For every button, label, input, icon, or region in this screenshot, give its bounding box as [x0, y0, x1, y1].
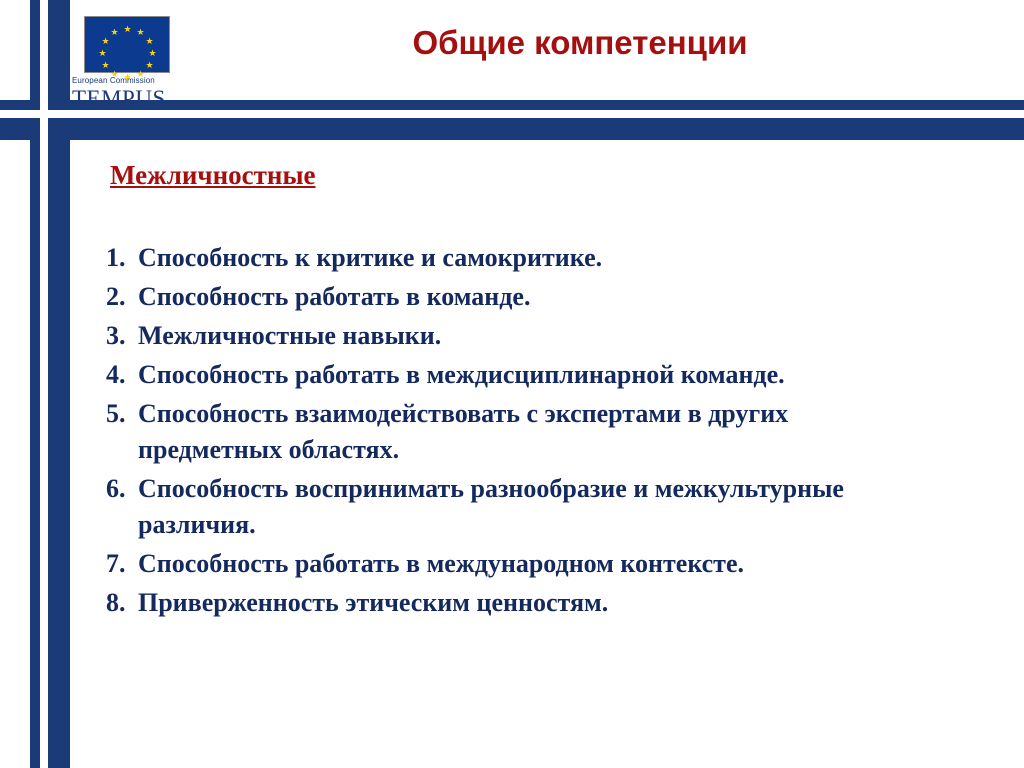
frame-notch-a — [40, 100, 48, 110]
list-item-number: 4. — [106, 357, 136, 393]
frame-bar-top-inner — [0, 118, 1024, 140]
frame-notch-d — [48, 110, 70, 118]
list-item-number: 2. — [106, 279, 136, 315]
list-item-text: Способность работать в международном кон… — [136, 546, 936, 582]
tempus-logo: ★ ★ ★ ★ ★ ★ ★ ★ ★ ★ ★ ★ European Commiss… — [72, 16, 182, 104]
list-item-text: Способность работать в команде. — [136, 279, 936, 315]
list-item: 5. Способность взаимодействовать с экспе… — [106, 396, 936, 468]
slide-canvas: ★ ★ ★ ★ ★ ★ ★ ★ ★ ★ ★ ★ European Commiss… — [0, 0, 1024, 768]
frame-notch-b — [40, 118, 48, 140]
eu-flag-icon: ★ ★ ★ ★ ★ ★ ★ ★ ★ ★ ★ ★ — [84, 16, 170, 73]
list-item-text: Способность взаимодействовать с эксперта… — [136, 396, 936, 468]
list-item: 7. Способность работать в международном … — [106, 546, 936, 582]
list-item: 3. Межличностные навыки. — [106, 318, 936, 354]
list-item: 8. Приверженность этическим ценностям. — [106, 585, 936, 621]
list-item-text: Способность работать в междисциплинарной… — [136, 357, 936, 393]
list-item-text: Приверженность этическим ценностям. — [136, 585, 936, 621]
frame-notch-c — [30, 110, 40, 118]
list-item-text: Способность к критике и самокритике. — [136, 240, 936, 276]
list-item-number: 6. — [106, 471, 136, 507]
competency-list: 1. Способность к критике и самокритике. … — [106, 240, 936, 624]
page-title: Общие компетенции — [200, 24, 960, 62]
list-item: 1. Способность к критике и самокритике. — [106, 240, 936, 276]
list-item-number: 3. — [106, 318, 136, 354]
section-subheading: Межличностные — [110, 160, 316, 191]
list-item-text: Способность воспринимать разнообразие и … — [136, 471, 936, 543]
list-item: 4. Способность работать в междисциплинар… — [106, 357, 936, 393]
list-item: 2. Способность работать в команде. — [106, 279, 936, 315]
list-item-number: 8. — [106, 585, 136, 621]
list-item-text: Межличностные навыки. — [136, 318, 936, 354]
list-item: 6. Способность воспринимать разнообразие… — [106, 471, 936, 543]
list-item-number: 5. — [106, 396, 136, 432]
list-item-number: 1. — [106, 240, 136, 276]
list-item-number: 7. — [106, 546, 136, 582]
logo-wordmark: TEMPUS — [72, 86, 192, 112]
logo-subtitle: European Commission — [72, 76, 182, 85]
